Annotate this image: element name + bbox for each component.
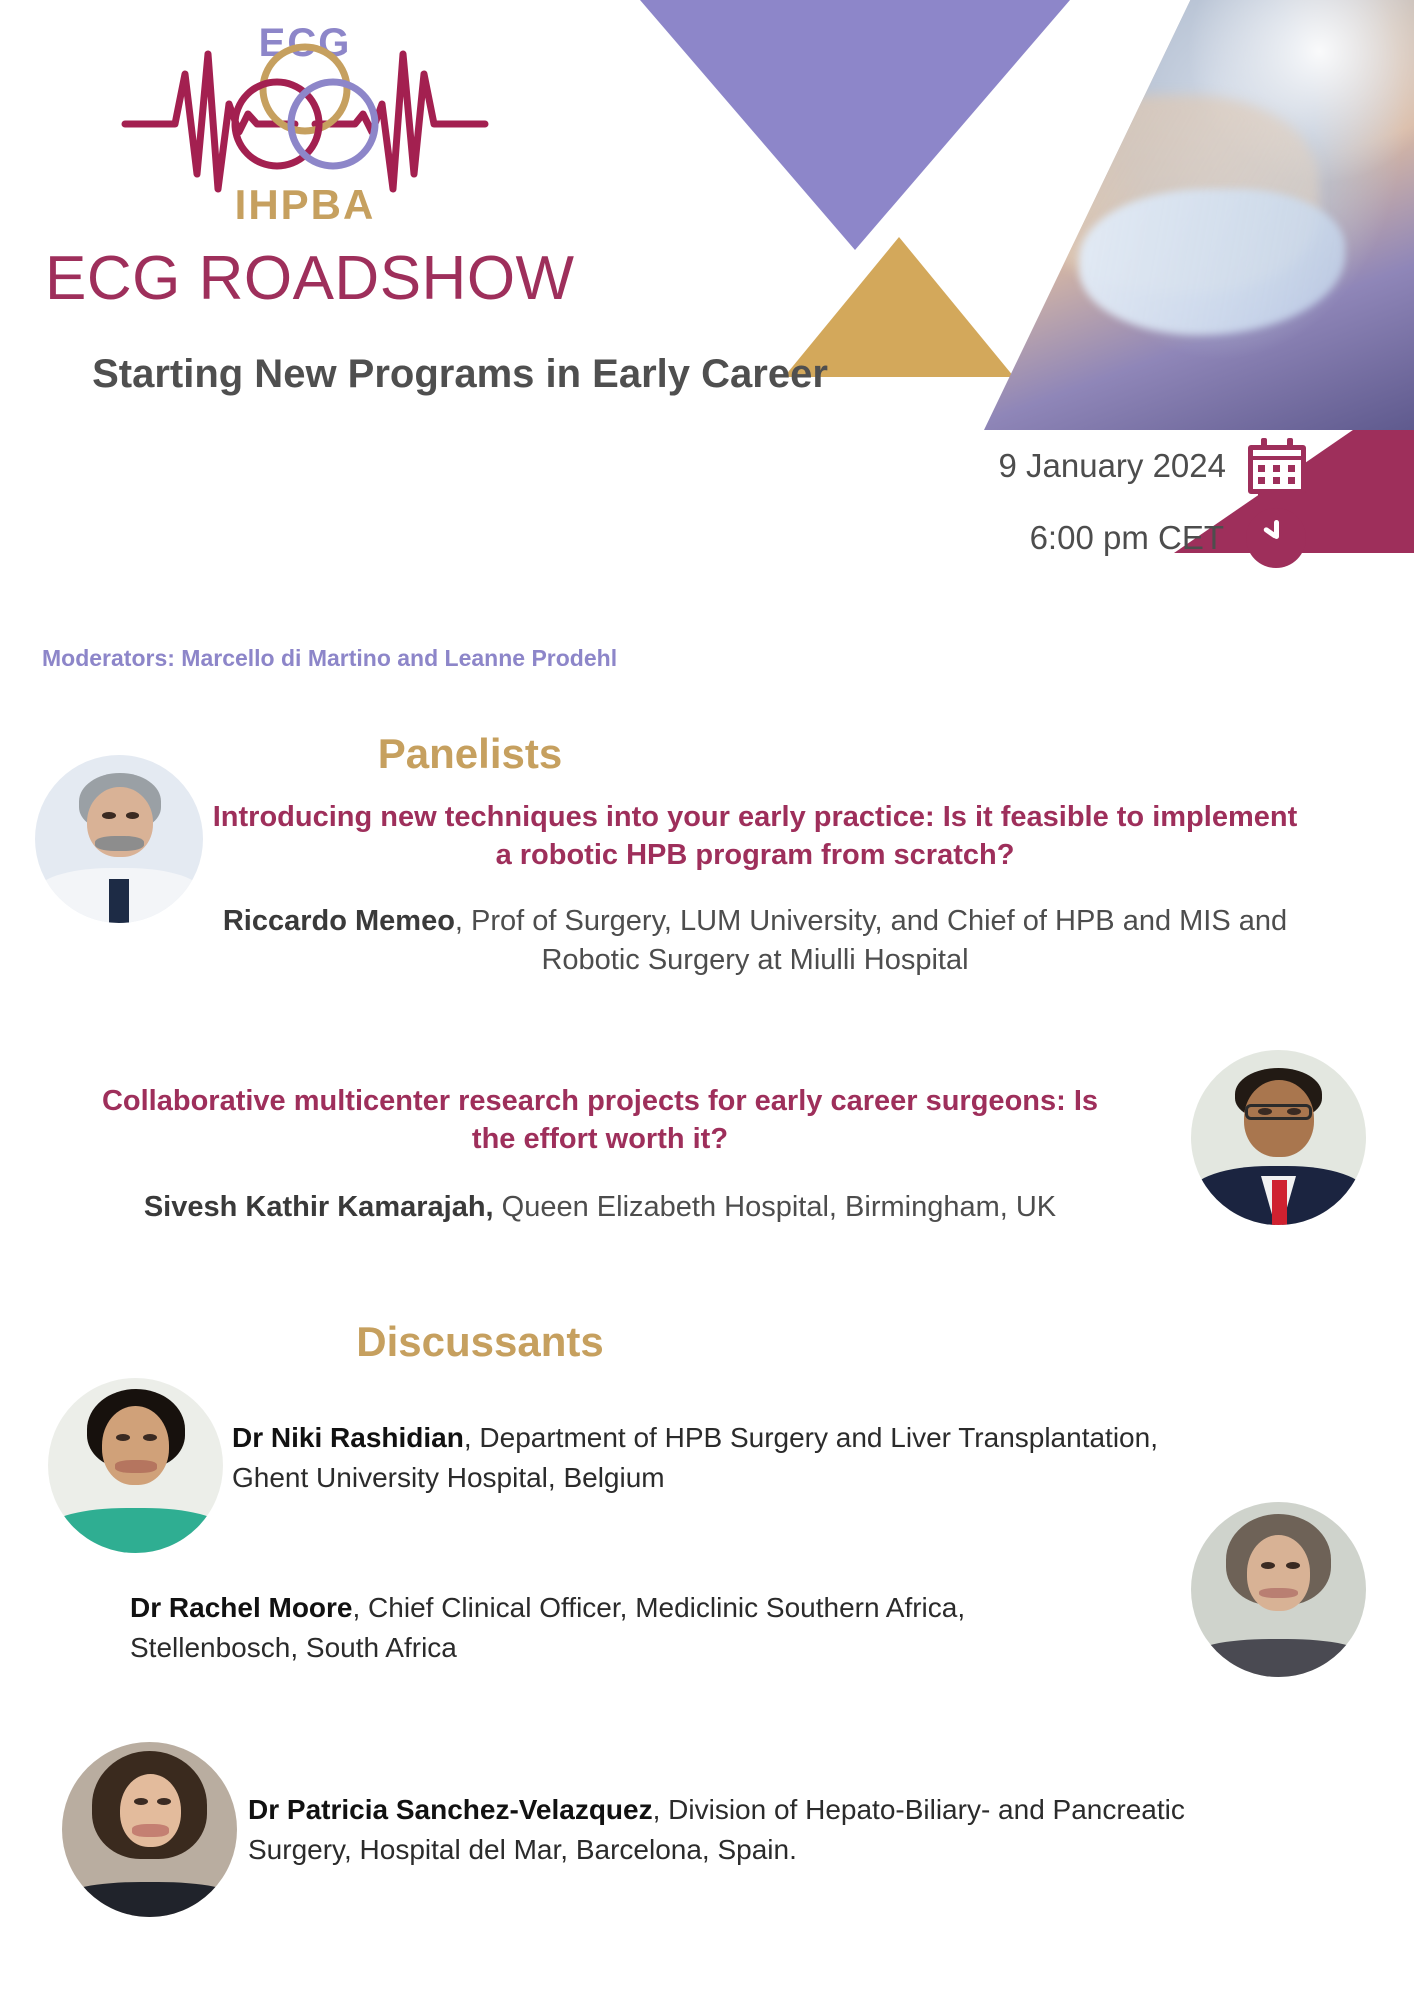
- avatar: [1191, 1050, 1366, 1225]
- page-title: ECG ROADSHOW: [45, 243, 575, 314]
- discussant-credentials: Dr Rachel Moore, Chief Clinical Officer,…: [130, 1588, 1110, 1668]
- panelist-credentials: Sivesh Kathir Kamarajah, Queen Elizabeth…: [95, 1188, 1105, 1227]
- purple-triangle-decoration: [640, 0, 1070, 250]
- clock-icon: [1246, 508, 1306, 568]
- svg-text:IHPBA: IHPBA: [235, 181, 376, 228]
- discussant-credentials: Dr Patricia Sanchez-Velazquez, Division …: [248, 1790, 1248, 1870]
- discussant-credentials: Dr Niki Rashidian, Department of HPB Sur…: [232, 1418, 1242, 1498]
- panelist-name: Sivesh Kathir Kamarajah,: [144, 1191, 494, 1223]
- avatar: [1191, 1502, 1366, 1677]
- panelist-name: Riccardo Memeo: [223, 905, 455, 937]
- discussant-name: Dr Patricia Sanchez-Velazquez: [248, 1794, 653, 1825]
- panelist-affiliation: , Prof of Surgery, LUM University, and C…: [455, 905, 1287, 976]
- avatar: [35, 755, 203, 923]
- event-date: 9 January 2024: [998, 447, 1226, 485]
- panelist-credentials: Riccardo Memeo, Prof of Surgery, LUM Uni…: [205, 902, 1305, 980]
- avatar: [48, 1378, 223, 1553]
- ecg-ihpba-logo: ECG IHPBA: [105, 14, 505, 229]
- event-time-row: 6:00 pm CET: [936, 502, 1306, 574]
- page-subtitle: Starting New Programs in Early Career: [45, 348, 875, 401]
- discussant-name: Dr Niki Rashidian: [232, 1422, 464, 1453]
- panelist-topic: Collaborative multicenter research proje…: [95, 1082, 1105, 1159]
- panelist-topic: Introducing new techniques into your ear…: [205, 798, 1305, 875]
- moderators-line: Moderators: Marcello di Martino and Lean…: [42, 645, 617, 672]
- event-datetime: 9 January 2024 6:00 pm CET: [936, 430, 1306, 574]
- calendar-icon: [1248, 438, 1306, 494]
- event-date-row: 9 January 2024: [936, 430, 1306, 502]
- panelists-heading: Panelists: [90, 730, 850, 778]
- event-time: 6:00 pm CET: [1030, 519, 1224, 557]
- discussant-name: Dr Rachel Moore: [130, 1592, 353, 1623]
- surgeon-photo: [984, 0, 1414, 430]
- panelist-affiliation: Queen Elizabeth Hospital, Birmingham, UK: [494, 1191, 1057, 1223]
- avatar: [62, 1742, 237, 1917]
- discussants-heading: Discussants: [100, 1318, 860, 1366]
